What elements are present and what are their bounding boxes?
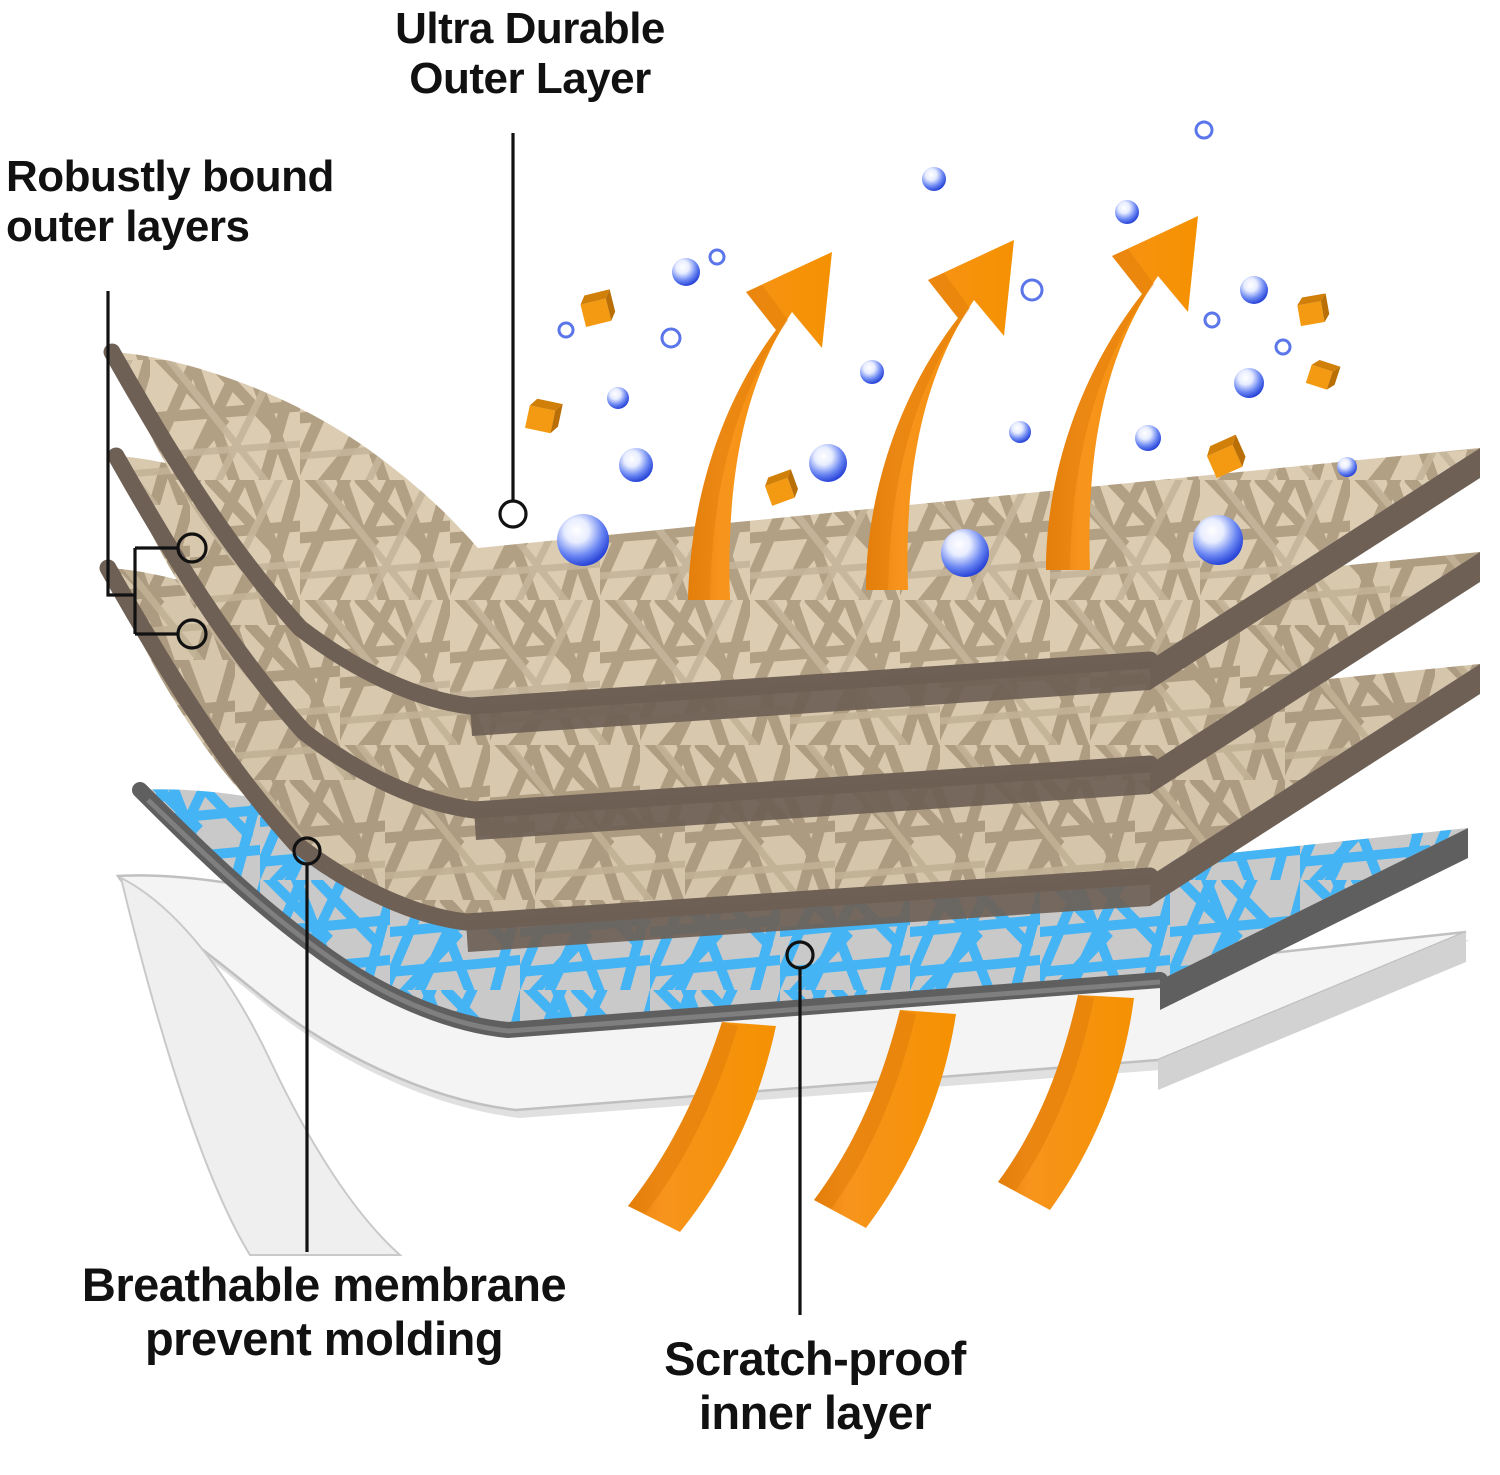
moisture-bubble [672, 258, 700, 286]
moisture-bubble [1115, 200, 1139, 224]
moisture-bubble [559, 323, 573, 337]
moisture-bubble [1234, 368, 1264, 398]
moisture-bubble [1196, 122, 1212, 138]
moisture-bubble [809, 444, 847, 482]
moisture-bubble [1022, 280, 1042, 300]
moisture-bubble [922, 167, 946, 191]
moisture-bubble [1193, 515, 1243, 565]
moisture-bubble [1276, 340, 1290, 354]
moisture-bubble [710, 250, 724, 264]
diagram-canvas: Ultra Durable Outer Layer Robustly bound… [0, 0, 1500, 1475]
moisture-bubble [860, 360, 884, 384]
leader-ultra [500, 133, 526, 527]
moisture-bubble [1009, 421, 1031, 443]
moisture-bubble [1135, 425, 1161, 451]
moisture-bubble [619, 448, 653, 482]
particle-cube [763, 469, 801, 506]
moisture-bubble [557, 514, 609, 566]
moisture-bubble [941, 529, 989, 577]
moisture-bubble [1240, 276, 1268, 304]
particle-cube [579, 289, 618, 327]
particle-cube [1204, 435, 1249, 478]
label-ultra-durable-outer-layer: Ultra Durable Outer Layer [330, 4, 730, 104]
moisture-bubble [1205, 313, 1219, 327]
particle-cube [525, 398, 563, 435]
particle-cube [1306, 358, 1341, 391]
moisture-bubble [662, 329, 680, 347]
moisture-bubble [607, 387, 629, 409]
moisture-bubble [1337, 457, 1357, 477]
label-robustly-bound-outer-layers: Robustly bound outer layers [6, 152, 466, 252]
particle-cube [1296, 293, 1330, 326]
label-scratch-proof-inner-layer: Scratch-proof inner layer [600, 1332, 1030, 1439]
label-breathable-membrane: Breathable membrane prevent molding [4, 1258, 644, 1365]
